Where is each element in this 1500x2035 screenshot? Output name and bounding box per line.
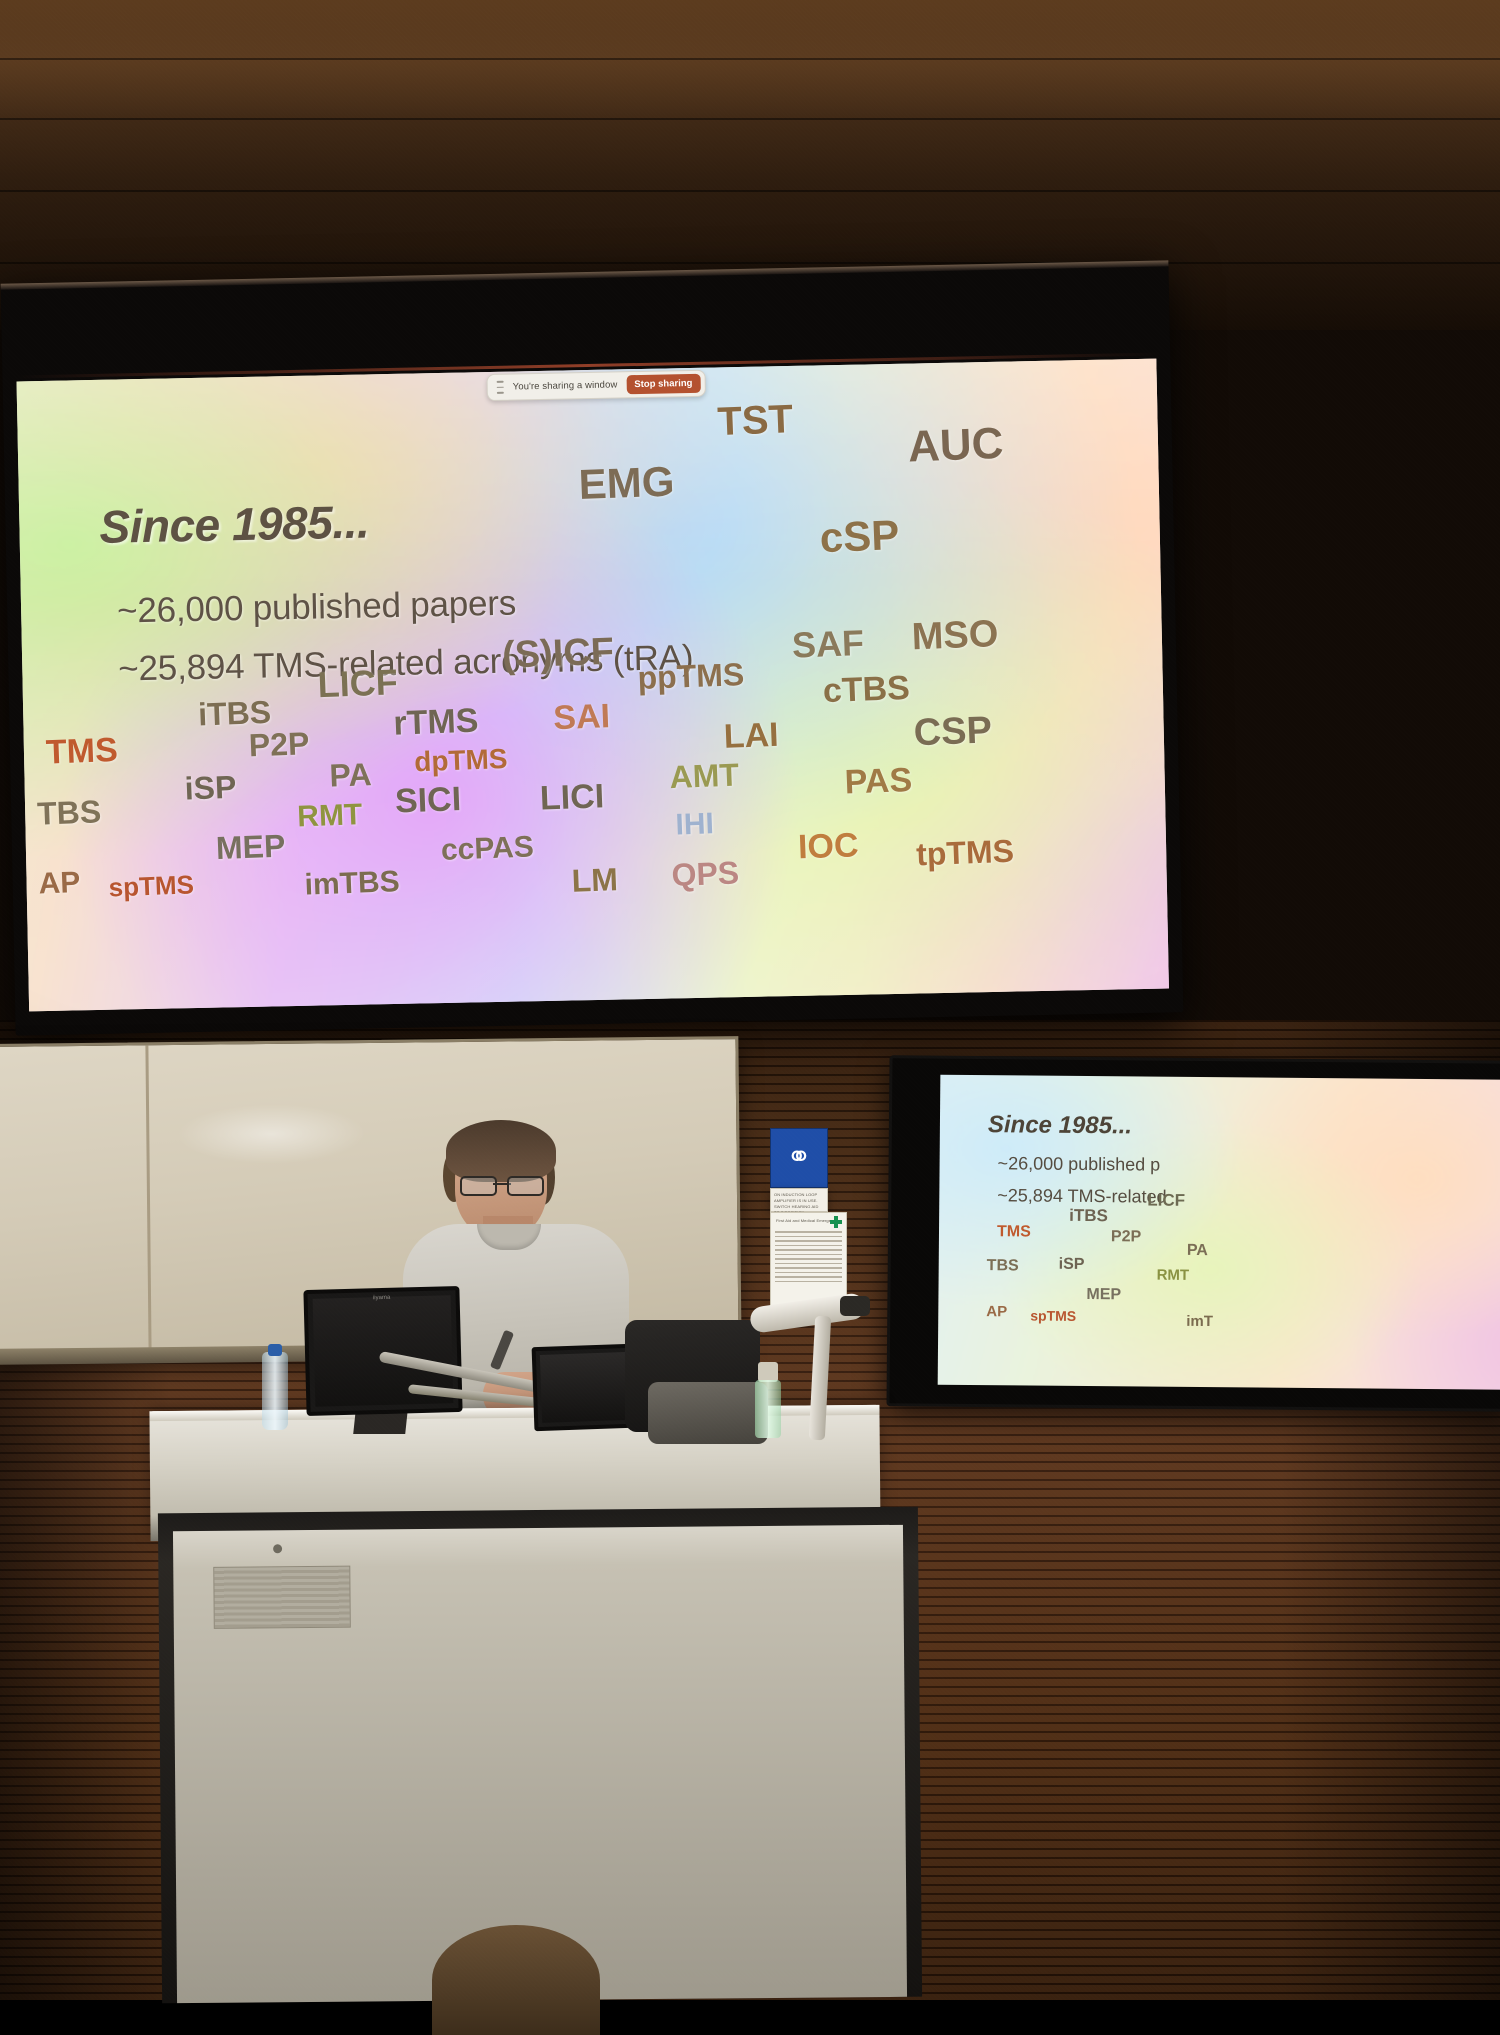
secondary-acronym-tms: TMS [997,1223,1031,1241]
water-bottle [262,1352,288,1430]
secondary-slide-line-2: ~25,894 TMS-related [997,1185,1166,1207]
lecture-hall-scene: You're sharing a window Stop sharing Sin… [0,0,1500,2000]
ceiling-panel-seam [0,190,1500,192]
monitor-brand-label: iiyama [373,1295,390,1301]
whiteboard-smudge [176,1103,367,1165]
presentation-slide: You're sharing a window Stop sharing Sin… [17,359,1169,1012]
secondary-monitor: Since 1985... ~26,000 published p ~25,89… [886,1055,1500,1411]
folded-jacket [648,1382,768,1444]
secondary-acronym-pa: PA [1187,1242,1208,1260]
audience-member-head [432,1925,600,2035]
ceiling-panel-seam [0,118,1500,120]
ceiling-light-glow [0,0,1500,120]
projection-screen: You're sharing a window Stop sharing Sin… [1,260,1184,1035]
ceiling-panel-seam [0,58,1500,60]
secondary-acronym-tbs: TBS [987,1257,1019,1275]
secondary-acronym-isp: iSP [1059,1256,1085,1274]
medical-cross-icon [830,1216,842,1228]
secondary-slide-title: Since 1985... [988,1111,1132,1140]
secondary-acronym-p2p: P2P [1111,1228,1141,1246]
presenter-hair [446,1120,556,1182]
first-aid-body-lines [775,1231,842,1285]
secondary-acronym-ap: AP [986,1303,1007,1320]
podium-knob [273,1544,282,1553]
secondary-acronym-rmt: RMT [1157,1267,1190,1284]
spray-bottle [755,1380,781,1438]
glasses-icon [460,1176,544,1192]
slide-vignette [17,359,1169,1012]
secondary-acronym-itbs: iTBS [1069,1206,1108,1226]
secondary-slide-line-1: ~26,000 published p [998,1153,1161,1175]
secondary-acronym-imt: imT [1186,1313,1213,1330]
secondary-monitor-screen: Since 1985... ~26,000 published p ~25,89… [938,1075,1500,1390]
first-aid-header: First Aid and Medical Emergency [771,1213,846,1227]
document-camera-head [840,1296,870,1316]
secondary-acronym-sptms: spTMS [1030,1308,1076,1324]
spray-bottle-nozzle [758,1362,778,1382]
water-bottle-cap [268,1344,282,1356]
ceiling-panel-seam [0,262,1500,264]
podium-vent-panel [213,1566,351,1629]
ear-glyph: ⚭ [786,1143,811,1173]
whiteboard-seam [145,1045,151,1355]
secondary-acronym-mep: MEP [1086,1286,1121,1304]
first-aid-sign: First Aid and Medical Emergency [770,1212,847,1309]
hearing-loop-icon: ⚭ [770,1128,828,1188]
secondary-acronym-licf: LICF [1147,1191,1185,1211]
hearing-loop-caption: ON INDUCTION LOOP AMPLIFIER IS IN USE. S… [770,1188,828,1212]
